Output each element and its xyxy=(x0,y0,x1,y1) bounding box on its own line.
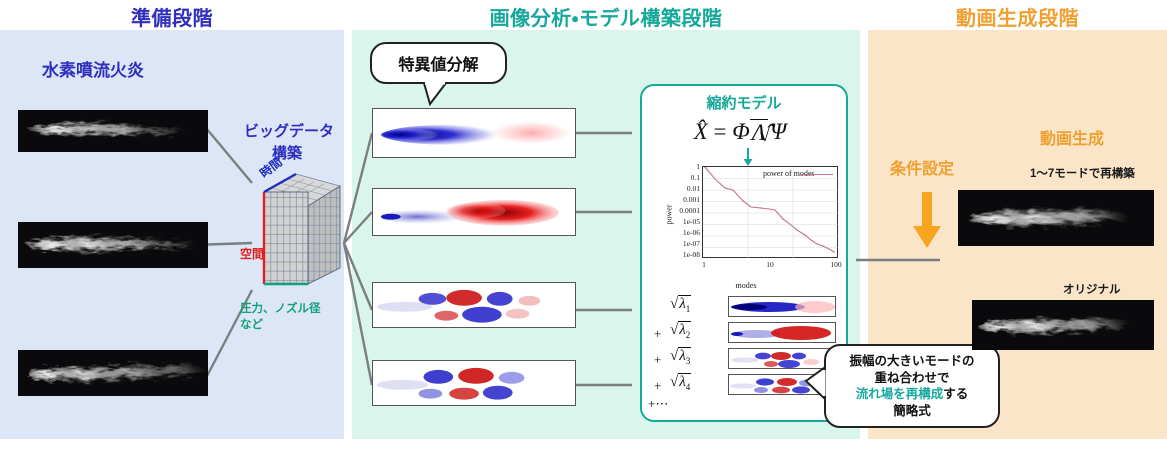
chart-xlabel: modes xyxy=(650,281,842,290)
mode-thumbnail xyxy=(728,322,836,343)
flame-photo xyxy=(18,222,208,268)
summary-line-4: 簡略式 xyxy=(893,403,931,420)
sum-coefficient: √λ2 xyxy=(670,322,691,340)
condition-setting-label: 条件設定 xyxy=(890,155,954,179)
data-cube xyxy=(258,170,344,295)
original-caption: オリジナル xyxy=(1063,281,1121,297)
reduced-model-title: 縮約モデル xyxy=(642,92,846,113)
sum-coefficient: √λ4 xyxy=(670,374,691,392)
svd-mode-panel xyxy=(372,188,576,236)
mode-sum-row: + √λ3 xyxy=(648,346,844,372)
cube-axis-params-cont: など xyxy=(240,316,263,332)
sum-plus: + xyxy=(654,378,661,394)
chart-plot-area: power of modes xyxy=(702,166,838,258)
reduced-model-formula: X̂ = ΦΛ̂√Ψ xyxy=(642,118,846,145)
reconstructed-video-frame xyxy=(958,190,1154,246)
cube-axis-params: 圧力、ノズル径 xyxy=(240,300,321,316)
flow-arrow-icon xyxy=(743,148,753,166)
power-spectrum-chart: power 1 0.1 0.01 0.001 0.0001 1e-05 1e-0… xyxy=(650,166,842,278)
diagram-stage: 準備段階 画像分析・モデル構築段階 動画生成段階 水素噴流火炎 xyxy=(0,0,1167,451)
svd-callout-text: 特異値分解 xyxy=(398,51,478,75)
bigdata-label-line1: ビッグデータ xyxy=(244,120,334,141)
mode-sum-list: √λ1 + √λ2 xyxy=(648,294,844,398)
chart-xticks: 1 10 100 xyxy=(702,260,838,272)
chart-yticks: 1 0.1 0.01 0.001 0.0001 1e-05 1e-06 1e-0… xyxy=(656,166,700,258)
flame-photo xyxy=(18,350,208,396)
mode-thumbnail xyxy=(728,374,836,395)
sum-coefficient: √λ1 xyxy=(670,296,691,314)
mode-thumbnail xyxy=(728,296,836,317)
summary-line-3-tail: する xyxy=(943,387,968,401)
sum-plus: + xyxy=(654,326,661,342)
chart-legend-swatch xyxy=(799,174,833,175)
summary-line-1: 振幅の大きいモードの xyxy=(849,353,974,370)
mode-sum-row: + √λ2 xyxy=(648,320,844,346)
summary-callout: 振幅の大きいモードの 重ね合わせで 流れ場を再構成する 簡略式 xyxy=(824,344,1000,428)
svd-mode-panel xyxy=(372,108,576,158)
summary-line-3: 流れ場を再構成する xyxy=(856,386,969,403)
mode-thumbnail xyxy=(728,348,836,369)
reduced-model-card: 縮約モデル X̂ = ΦΛ̂√Ψ power 1 0.1 0.01 0.001 … xyxy=(640,84,848,422)
original-video-frame xyxy=(972,300,1154,350)
prep-section-label: 水素噴流火炎 xyxy=(42,56,144,81)
stage-header-video: 動画生成段階 xyxy=(868,2,1167,31)
summary-line-2: 重ね合わせで xyxy=(874,370,949,387)
svd-mode-panel xyxy=(372,282,576,328)
svd-mode-panel xyxy=(372,360,576,406)
process-arrow-icon xyxy=(912,192,942,248)
svd-callout: 特異値分解 xyxy=(370,42,507,84)
reconstruction-caption: 1〜7モードで再構築 xyxy=(1030,165,1135,181)
sum-coefficient: √λ3 xyxy=(670,348,691,366)
stage-header-analysis: 画像分析・モデル構築段階 xyxy=(352,2,860,31)
mode-sum-ellipsis: +⋯ xyxy=(648,396,668,412)
sum-plus: + xyxy=(654,352,661,368)
stage-header-prep: 準備段階 xyxy=(0,2,344,31)
mode-sum-row: √λ1 xyxy=(648,294,844,320)
flame-photo xyxy=(18,110,208,152)
mode-sum-row: + √λ4 xyxy=(648,372,844,398)
cube-axis-space: 空間 xyxy=(240,248,254,261)
video-generate-label: 動画生成 xyxy=(1040,125,1104,149)
summary-highlight: 流れ場を再構成 xyxy=(856,387,944,401)
